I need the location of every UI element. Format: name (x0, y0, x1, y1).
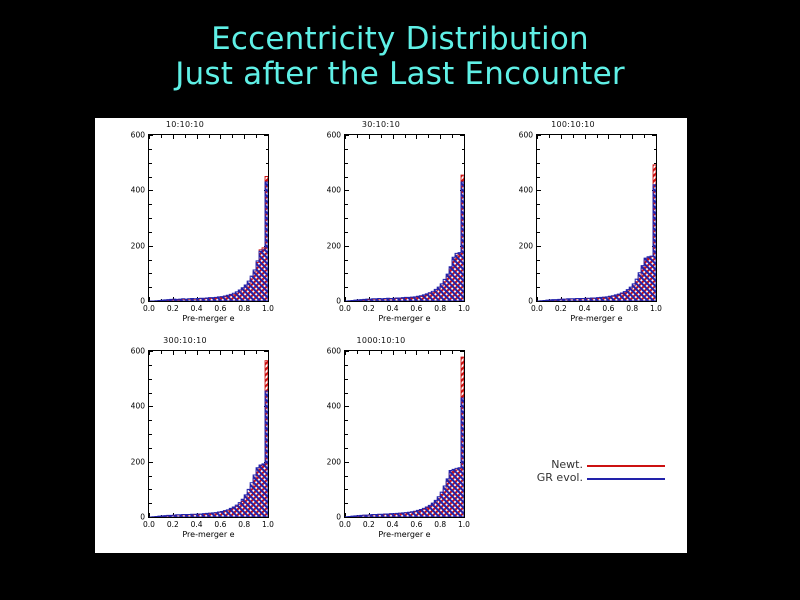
histogram-panel-4: 300:10:100.00.20.40.60.81.00200400600Pre… (95, 336, 275, 546)
y-tick-label: 0 (336, 513, 341, 522)
x-tick-label: 1.0 (458, 520, 470, 529)
histogram-series-group (149, 351, 268, 517)
x-tick-label: 0.6 (410, 520, 422, 529)
y-tick-label: 600 (519, 131, 533, 140)
page-title: Eccentricity Distribution Just after the… (0, 22, 800, 92)
y-tick-label: 400 (327, 402, 341, 411)
histogram-series-group (345, 351, 464, 517)
plot-area (344, 134, 465, 302)
x-tick-label: 0.2 (167, 304, 179, 313)
panel-title: 1000:10:10 (291, 336, 471, 345)
y-tick-label: 200 (131, 241, 145, 250)
panel-title: 10:10:10 (95, 120, 275, 129)
plot-area (148, 134, 269, 302)
figure-panel-grid: Newt.GR evol. 10:10:100.00.20.40.60.81.0… (95, 118, 687, 553)
histogram-panel-5: 1000:10:100.00.20.40.60.81.00200400600Pr… (291, 336, 471, 546)
y-tick-label: 400 (131, 402, 145, 411)
legend-item-1: Newt. (495, 458, 675, 472)
y-tick-label: 0 (336, 297, 341, 306)
histogram-series-group (149, 135, 268, 301)
panel-title: 30:10:10 (291, 120, 471, 129)
x-tick-label: 0.8 (434, 520, 446, 529)
x-axis-label: Pre-merger e (344, 314, 465, 323)
axis-tick (149, 301, 153, 302)
x-tick-label: 1.0 (458, 304, 470, 313)
axis-tick (268, 135, 269, 139)
y-tick-label: 0 (140, 513, 145, 522)
series-gr-evolution (537, 185, 656, 301)
axis-tick (460, 517, 464, 518)
x-tick-label: 0.6 (602, 304, 614, 313)
x-axis-label: Pre-merger e (148, 314, 269, 323)
slide-canvas: Eccentricity Distribution Just after the… (0, 0, 800, 600)
axis-tick (537, 301, 541, 302)
y-tick-label: 600 (327, 347, 341, 356)
y-tick-label: 400 (519, 186, 533, 195)
plot-area (148, 350, 269, 518)
y-tick-label: 200 (327, 457, 341, 466)
axis-tick (149, 517, 153, 518)
x-axis-label: Pre-merger e (536, 314, 657, 323)
axis-tick (264, 301, 268, 302)
axis-tick (652, 301, 656, 302)
y-tick-label: 200 (327, 241, 341, 250)
axis-tick (460, 301, 464, 302)
histogram-series-group (345, 135, 464, 301)
histogram-panel-3: 100:10:100.00.20.40.60.81.00200400600Pre… (483, 120, 663, 330)
panel-title: 100:10:10 (483, 120, 663, 129)
histogram-panel-2: 30:10:100.00.20.40.60.81.00200400600Pre-… (291, 120, 471, 330)
title-line-1: Eccentricity Distribution (0, 22, 800, 57)
y-tick-label: 400 (327, 186, 341, 195)
x-tick-label: 0.2 (167, 520, 179, 529)
x-tick-label: 1.0 (262, 520, 274, 529)
axis-tick (264, 517, 268, 518)
x-tick-label: 0.4 (579, 304, 591, 313)
legend-item-2: GR evol. (495, 471, 675, 485)
x-axis-label: Pre-merger e (344, 530, 465, 539)
series-gr-evolution (345, 182, 464, 301)
histogram-series-group (537, 135, 656, 301)
x-tick-label: 0.6 (214, 304, 226, 313)
axis-tick (464, 513, 465, 517)
series-gr-evolution (149, 182, 268, 301)
axis-tick (345, 301, 349, 302)
histogram-panel-1: 10:10:100.00.20.40.60.81.00200400600Pre-… (95, 120, 275, 330)
chart-legend: Newt.GR evol. (495, 458, 675, 498)
x-tick-label: 0.4 (191, 520, 203, 529)
x-axis-label: Pre-merger e (148, 530, 269, 539)
x-tick-label: 1.0 (650, 304, 662, 313)
x-tick-label: 0.2 (555, 304, 567, 313)
x-tick-label: 0.8 (434, 304, 446, 313)
axis-tick (656, 135, 657, 139)
y-tick-label: 600 (131, 131, 145, 140)
series-gr-evolution (345, 398, 464, 517)
x-tick-label: 1.0 (262, 304, 274, 313)
axis-tick (268, 351, 269, 355)
axis-tick (268, 297, 269, 301)
plot-area (344, 350, 465, 518)
panel-title: 300:10:10 (95, 336, 275, 345)
y-tick-label: 600 (327, 131, 341, 140)
axis-tick (656, 297, 657, 301)
axis-tick (464, 351, 465, 355)
axis-tick (268, 513, 269, 517)
plot-area (536, 134, 657, 302)
x-tick-label: 0.2 (363, 520, 375, 529)
x-tick-label: 0.8 (238, 304, 250, 313)
x-tick-label: 0.6 (214, 520, 226, 529)
x-tick-label: 0.8 (238, 520, 250, 529)
x-tick-label: 0.4 (387, 304, 399, 313)
x-tick-label: 0.4 (387, 520, 399, 529)
legend-label: Newt. (551, 458, 583, 471)
legend-line-swatch (587, 465, 665, 467)
y-tick-label: 0 (528, 297, 533, 306)
y-tick-label: 0 (140, 297, 145, 306)
title-line-2: Just after the Last Encounter (0, 57, 800, 92)
y-tick-label: 200 (131, 457, 145, 466)
y-tick-label: 600 (131, 347, 145, 356)
x-tick-label: 0.6 (410, 304, 422, 313)
series-gr-evolution (149, 391, 268, 517)
y-tick-label: 400 (131, 186, 145, 195)
axis-tick (464, 297, 465, 301)
x-tick-label: 0.2 (363, 304, 375, 313)
legend-label: GR evol. (537, 471, 583, 484)
axis-tick (464, 135, 465, 139)
y-tick-label: 200 (519, 241, 533, 250)
x-tick-label: 0.8 (626, 304, 638, 313)
legend-line-swatch (587, 478, 665, 480)
axis-tick (345, 517, 349, 518)
x-tick-label: 0.4 (191, 304, 203, 313)
